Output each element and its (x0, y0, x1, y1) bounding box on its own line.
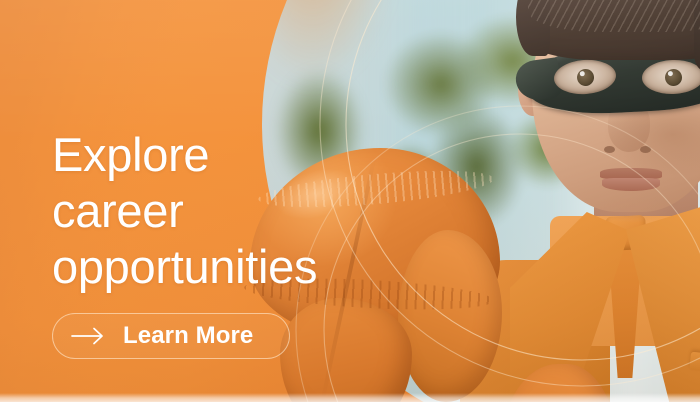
learn-more-label: Learn More (123, 322, 253, 350)
promo-banner: Explore career opportunities Learn More (0, 0, 700, 402)
learn-more-button[interactable]: Learn More (52, 313, 290, 359)
page-title: Explore career opportunities (52, 127, 382, 295)
banner-content: Explore career opportunities Learn More (0, 0, 700, 402)
arrow-right-icon (71, 327, 105, 345)
